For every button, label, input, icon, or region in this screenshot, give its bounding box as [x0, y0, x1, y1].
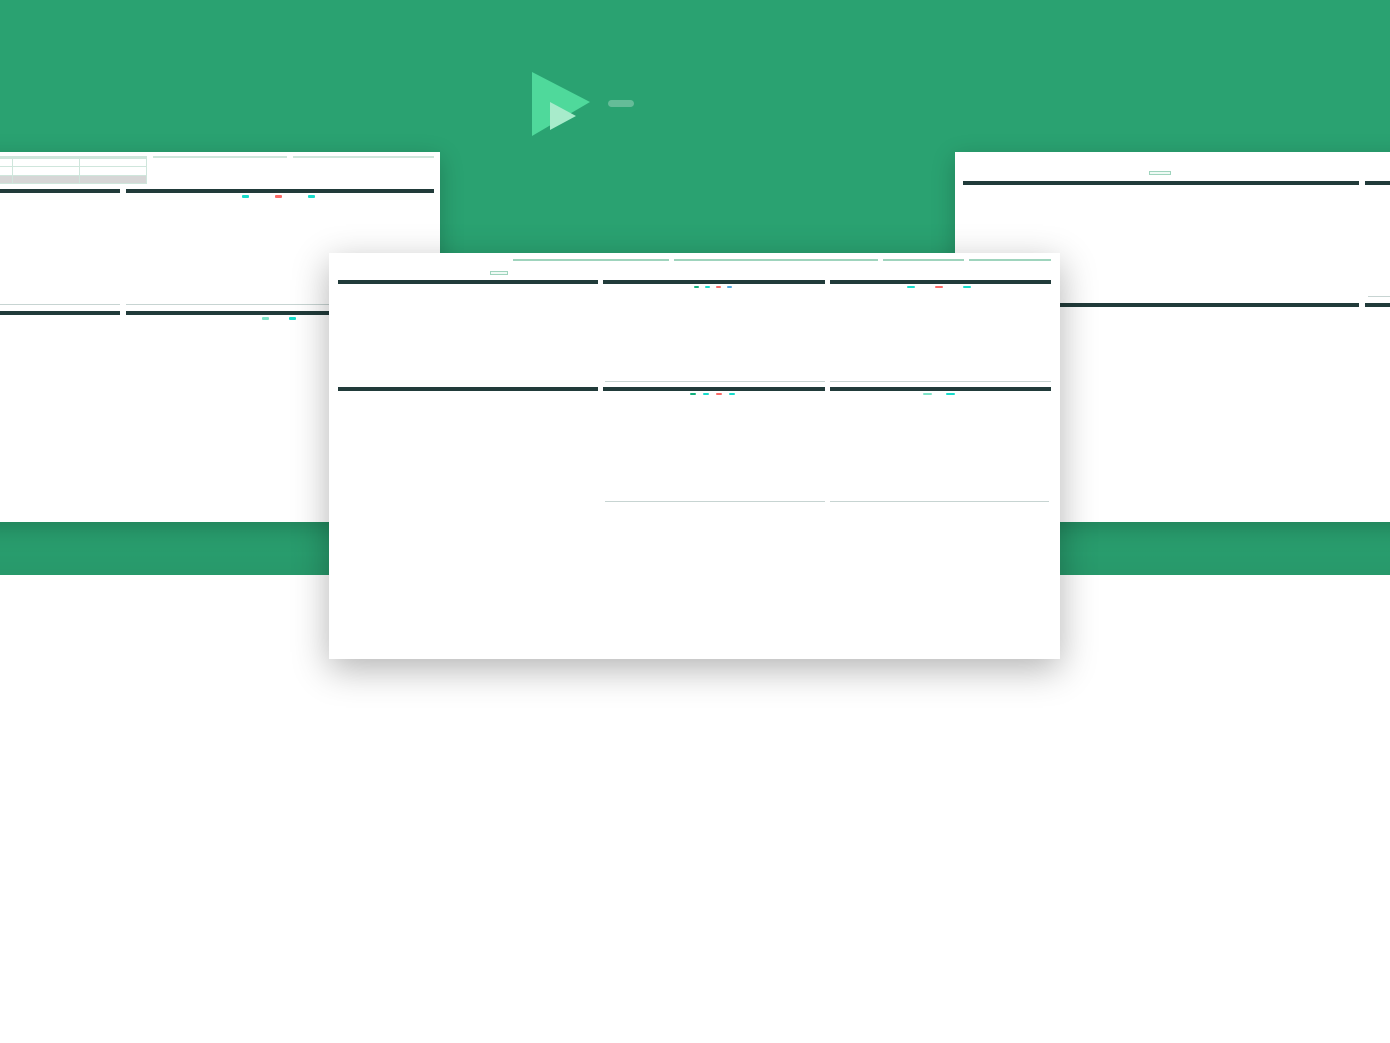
- scenario-select[interactable]: [1149, 171, 1171, 175]
- legend-operating: [690, 393, 698, 395]
- scenario-select[interactable]: [490, 271, 508, 275]
- legend-investing: [703, 393, 711, 395]
- legend-other: [727, 286, 734, 288]
- legend-cumulative: [946, 393, 957, 395]
- brand-logo: [528, 58, 888, 150]
- screenshot-main-dashboard[interactable]: [329, 253, 1060, 659]
- legend-payback-year: [923, 393, 934, 395]
- core-inputs-title: [963, 181, 1359, 185]
- legend-cumulative: [289, 317, 298, 320]
- legend-revenue: [907, 286, 917, 288]
- ready-badge: [608, 100, 634, 107]
- wc-panel-title: [883, 259, 965, 261]
- legend-payback-year: [262, 317, 271, 320]
- debt-panel-title: [674, 259, 878, 261]
- legend-prototyping: [694, 286, 701, 288]
- legend-revenue: [242, 195, 251, 198]
- play-triangle-icon: [528, 68, 594, 140]
- wc-title: [154, 157, 287, 158]
- legend-smallbatch: [705, 286, 712, 288]
- legend-ebitda: [935, 286, 945, 288]
- legend-financing: [716, 393, 724, 395]
- legend-netcash: [729, 393, 737, 395]
- legend-consulting: [716, 286, 723, 288]
- currency-panel-title: [513, 259, 669, 261]
- km-panel-title: [969, 259, 1051, 261]
- core-financials-title: [338, 387, 598, 391]
- legend-ebitda: [275, 195, 284, 198]
- core-inputs-title: [338, 280, 598, 284]
- legend-ebitda-pct: [308, 195, 317, 198]
- km-title: [294, 157, 434, 158]
- legend-ebitda-pct: [963, 286, 973, 288]
